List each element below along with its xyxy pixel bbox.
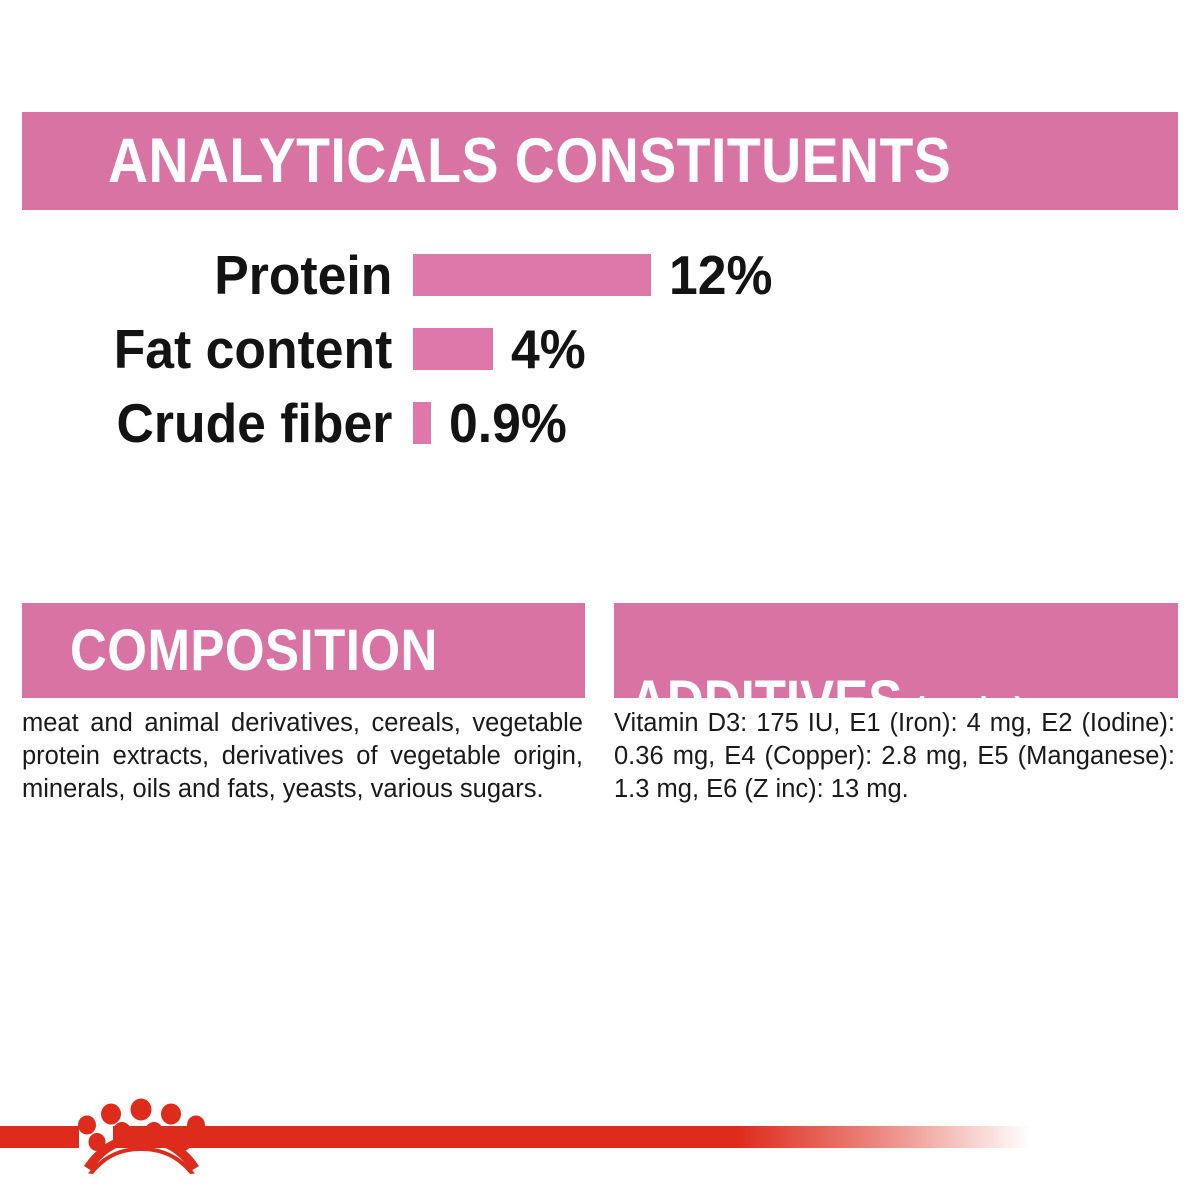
bar-protein bbox=[413, 254, 651, 296]
chart-row: Fat content 4% bbox=[0, 312, 1200, 386]
nutrition-panel: ANALYTICALS CONSTITUENTS Protein 12% Fat… bbox=[0, 0, 1200, 1200]
analyticals-header-band: ANALYTICALS CONSTITUENTS bbox=[22, 112, 1178, 210]
chart-row: Protein 12% bbox=[0, 238, 1200, 312]
bar-label-crude-fiber: Crude fiber bbox=[25, 396, 413, 451]
footer-rule-right bbox=[113, 1126, 1030, 1148]
analyticals-heading: ANALYTICALS CONSTITUENTS bbox=[108, 130, 951, 193]
analyticals-bar-chart: Protein 12% Fat content 4% Crude fiber 0… bbox=[0, 238, 1200, 460]
composition-body-text: meat and animal derivatives, cereals, ve… bbox=[22, 707, 583, 806]
bar-group-crude-fiber: 0.9% bbox=[413, 396, 574, 451]
royal-canin-crown-logo bbox=[78, 1096, 206, 1174]
bar-group-protein: 12% bbox=[413, 248, 779, 303]
composition-heading: COMPOSITION bbox=[70, 622, 438, 680]
bar-label-protein: Protein bbox=[25, 248, 413, 303]
bar-value-crude-fiber: 0.9% bbox=[449, 396, 567, 451]
bar-value-fat-content: 4% bbox=[511, 322, 586, 377]
bar-group-fat-content: 4% bbox=[413, 322, 591, 377]
bar-crude-fiber bbox=[413, 402, 431, 444]
bar-label-fat-content: Fat content bbox=[25, 322, 413, 377]
chart-row: Crude fiber 0.9% bbox=[0, 386, 1200, 460]
bar-fat-content bbox=[413, 328, 493, 370]
additives-header-band: ADDITIVES(per kg) bbox=[614, 603, 1178, 698]
footer-rule-left bbox=[0, 1126, 79, 1148]
bar-value-protein: 12% bbox=[669, 248, 772, 303]
composition-header-band: COMPOSITION bbox=[22, 603, 585, 698]
additives-body-text: Vitamin D3: 175 IU, E1 (Iron): 4 mg, E2 … bbox=[614, 707, 1175, 806]
